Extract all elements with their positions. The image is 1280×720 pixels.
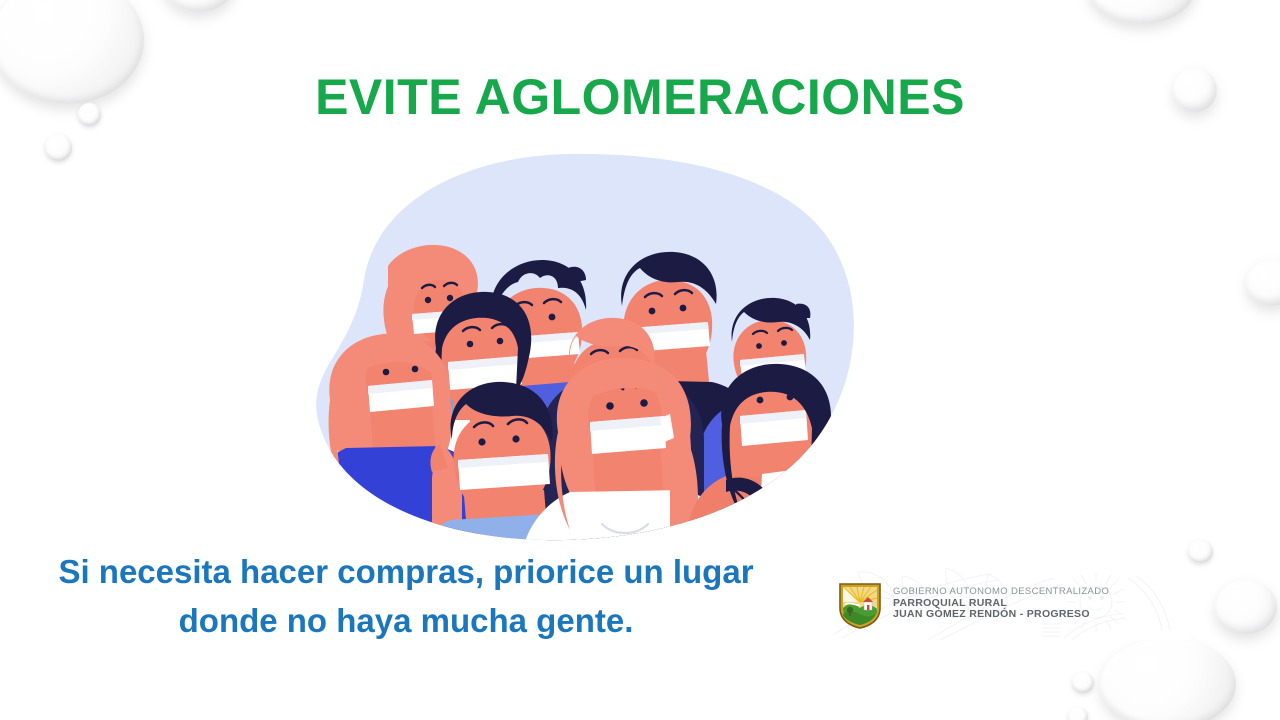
coat-of-arms-icon <box>836 578 884 630</box>
logo-line-1: GOBIERNO AUTONOMO DESCENTRALIZADO <box>893 587 1109 598</box>
bubble-bottom-large <box>1100 638 1236 720</box>
slide-canvas: EVITE AGLOMERACIONES <box>0 0 1280 720</box>
bubble-right-edge <box>1246 260 1280 306</box>
logo-text-block: GOBIERNO AUTONOMO DESCENTRALIZADO PARROQ… <box>893 587 1109 621</box>
bubble-bottom-right-md <box>1215 580 1277 634</box>
bubble-bottom-tiny-a <box>1072 672 1094 693</box>
organization-logo: GOBIERNO AUTONOMO DESCENTRALIZADO PARROQ… <box>828 568 1190 640</box>
bubble-top-left-mid <box>45 134 72 161</box>
bubble-bottom-tiny-b <box>1068 707 1088 720</box>
bubble-top-right-large <box>1088 0 1196 24</box>
bubble-top-edge-left <box>163 0 235 12</box>
crowd-illustration <box>272 148 868 548</box>
logo-line-3: JUAN GÓMEZ RENDÓN - PROGRESO <box>893 609 1109 621</box>
page-title: EVITE AGLOMERACIONES <box>0 68 1280 126</box>
caption-text: Si necesita hacer compras, priorice un l… <box>56 548 756 646</box>
bubble-bottom-right-sm <box>1188 540 1213 563</box>
